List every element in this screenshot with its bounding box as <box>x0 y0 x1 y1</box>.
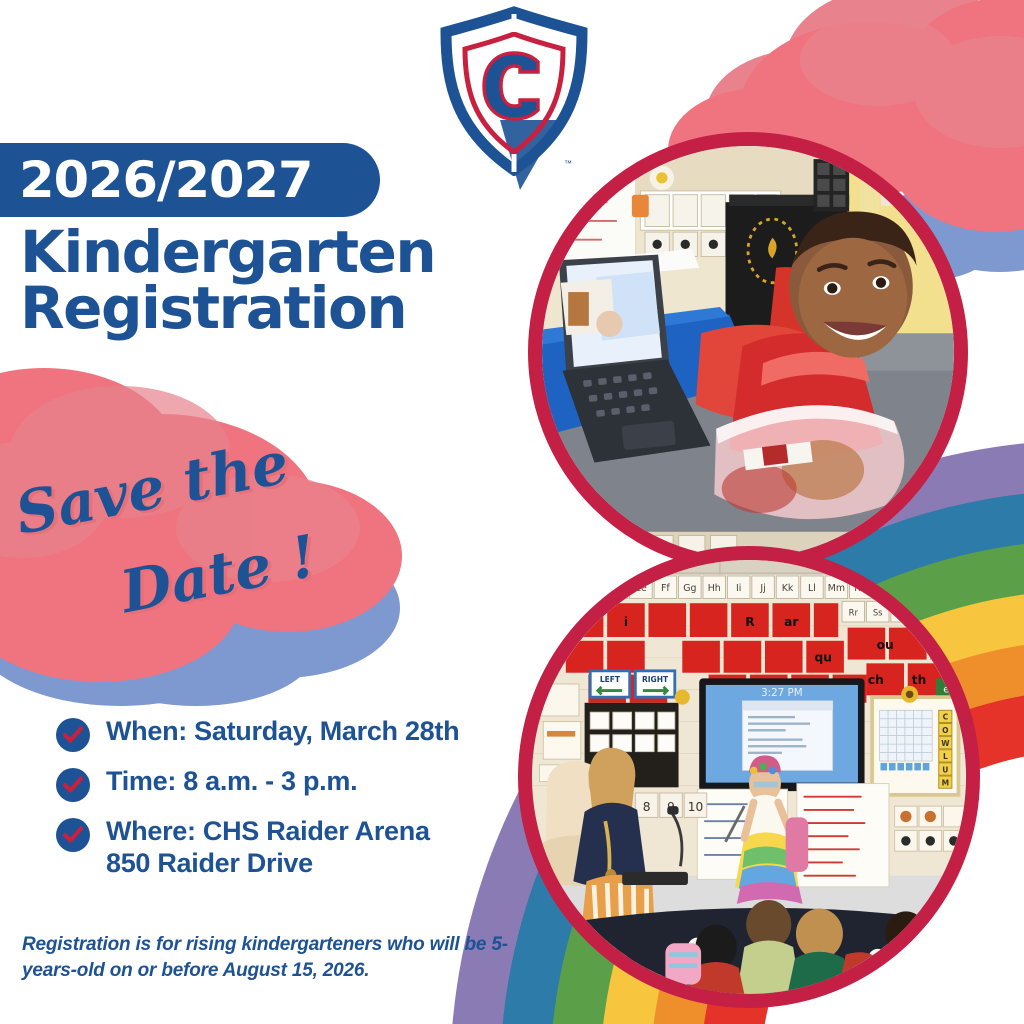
svg-text:Ll: Ll <box>808 583 816 594</box>
svg-text:R: R <box>745 615 755 629</box>
svg-text:U: U <box>942 765 948 774</box>
svg-text:Tt: Tt <box>897 607 907 617</box>
list-item: Time: 8 a.m. - 3 p.m. <box>56 766 526 802</box>
svg-text:Ee: Ee <box>635 583 647 594</box>
svg-text:Kk: Kk <box>782 583 794 594</box>
svg-text:Ss: Ss <box>873 607 883 617</box>
list-item: When: Saturday, March 28th <box>56 716 526 752</box>
year-badge: 2026/2027 <box>0 143 380 217</box>
svg-text:L: L <box>943 752 948 761</box>
svg-text:3:27 PM: 3:27 PM <box>761 687 803 699</box>
svg-text:qu: qu <box>814 650 831 664</box>
check-circle-icon <box>56 818 90 852</box>
svg-text:Jj: Jj <box>759 583 765 594</box>
svg-text:10: 10 <box>688 800 704 814</box>
svg-text:ou: ou <box>877 638 894 652</box>
save-the-date-line2: Date ! <box>115 522 322 626</box>
svg-text:M: M <box>942 778 949 787</box>
photo-student-with-laptop <box>528 132 968 572</box>
svg-text:8: 8 <box>643 800 651 814</box>
svg-text:ed: ed <box>943 684 955 695</box>
svg-text:Hh: Hh <box>708 583 721 594</box>
event-details-list: When: Saturday, March 28th Time: 8 a.m. … <box>56 716 526 894</box>
save-the-date: Save the Date ! <box>0 430 420 650</box>
svg-text:ar: ar <box>784 615 798 629</box>
poster-canvas: ™ 2026/2027 Kindergarten Registration Sa… <box>0 0 1024 1024</box>
svg-text:O: O <box>942 726 948 735</box>
page-title-line1: Kindergarten <box>20 225 540 281</box>
event-detail-when: When: Saturday, March 28th <box>106 716 459 748</box>
event-detail-time: Time: 8 a.m. - 3 p.m. <box>106 766 357 798</box>
event-detail-where: Where: CHS Raider Arena <box>106 816 430 846</box>
photo-classroom-lesson: BbCcDd EeFfGg HhIiJj KkLlMm NnOoPp Qq <box>518 546 980 1008</box>
svg-text:Gg: Gg <box>683 583 696 594</box>
shield-c-logo: ™ <box>434 6 594 176</box>
check-circle-icon <box>56 718 90 752</box>
svg-text:RIGHT: RIGHT <box>642 675 669 684</box>
year-badge-label: 2026/2027 <box>19 155 312 205</box>
svg-text:Ii: Ii <box>736 583 741 594</box>
svg-text:Ff: Ff <box>661 583 670 594</box>
svg-text:Rr: Rr <box>849 607 859 617</box>
eligibility-note: Registration is for rising kindergartene… <box>22 932 522 984</box>
svg-text:th: th <box>912 673 927 687</box>
svg-text:Nn: Nn <box>854 583 867 594</box>
list-item: Where: CHS Raider Arena 850 Raider Drive <box>56 816 526 880</box>
page-title-line2: Registration <box>20 281 540 337</box>
svg-text:i: i <box>624 615 628 629</box>
svg-text:W: W <box>941 739 950 748</box>
svg-text:ch: ch <box>868 673 884 687</box>
svg-text:Mm: Mm <box>828 583 845 594</box>
event-detail-where-address: 850 Raider Drive <box>106 848 430 880</box>
svg-text:e: e <box>580 615 588 629</box>
check-circle-icon <box>56 768 90 802</box>
trademark-mark: ™ <box>564 159 572 168</box>
svg-text:LEFT: LEFT <box>600 675 621 684</box>
svg-text:C: C <box>943 713 949 722</box>
page-title: Kindergarten Registration <box>20 225 540 336</box>
save-the-date-line1: Save the <box>10 428 294 547</box>
